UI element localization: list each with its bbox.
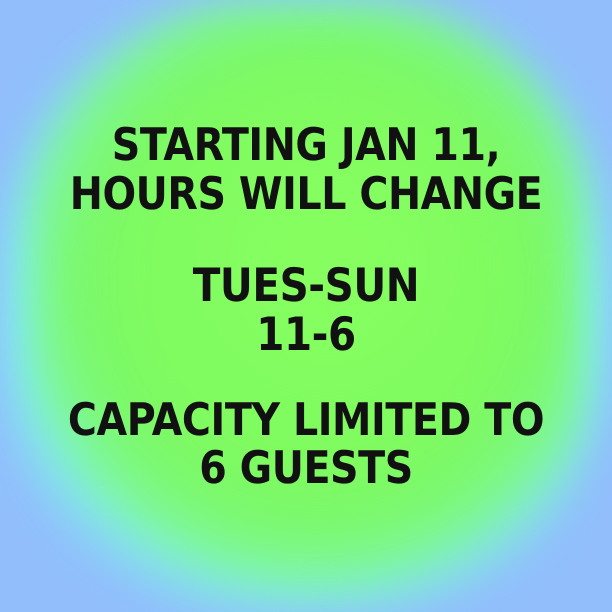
capacity-line-2: 6 GUESTS	[37, 445, 576, 490]
capacity-block: CAPACITY LIMITED TO 6 GUESTS	[0, 397, 612, 490]
poster-text-content: STARTING JAN 11, HOURS WILL CHANGE TUES-…	[0, 0, 612, 612]
hours-days: TUES-SUN	[37, 262, 576, 308]
capacity-line-1: CAPACITY LIMITED TO	[37, 397, 576, 442]
heading-line-2: HOURS WILL CHANGE	[37, 171, 576, 216]
announcement-poster: STARTING JAN 11, HOURS WILL CHANGE TUES-…	[0, 0, 612, 612]
hours-block: TUES-SUN 11-6	[0, 262, 612, 357]
hours-time: 11-6	[37, 311, 576, 357]
heading-line-1: STARTING JAN 11,	[37, 122, 576, 167]
heading-block: STARTING JAN 11, HOURS WILL CHANGE	[0, 122, 612, 216]
